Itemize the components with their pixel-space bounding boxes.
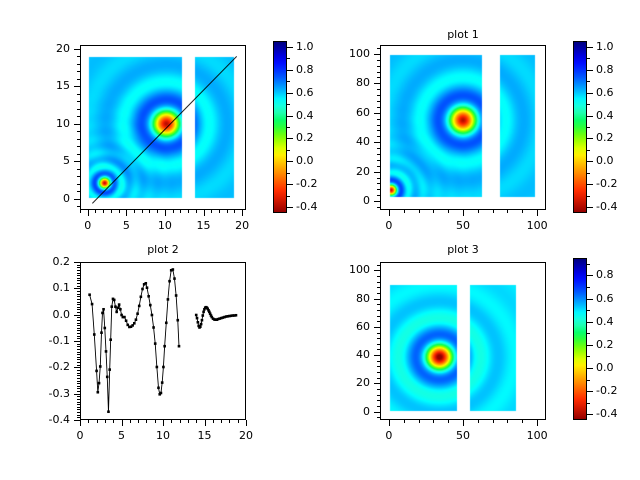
xtick-major (389, 210, 390, 216)
colorbar-tick-minor (287, 127, 290, 128)
ytick-label: -0.1 (24, 334, 70, 347)
ytick-minor (77, 373, 80, 374)
xtick-minor (238, 420, 239, 423)
xtick-major (246, 420, 247, 426)
ytick-minor (77, 296, 80, 297)
colorbar-tick-minor (587, 356, 590, 357)
colorbar-tick-minor (587, 287, 590, 288)
line-marker (114, 305, 117, 308)
ytick-label: 40 (324, 135, 370, 148)
ytick-minor (377, 207, 380, 208)
heatmap-image-top-right (381, 46, 545, 209)
line-marker (136, 312, 139, 315)
ytick-minor (77, 273, 80, 274)
colorbar-tick (587, 391, 593, 392)
ytick-minor (77, 328, 80, 329)
xtick-minor (433, 420, 434, 423)
xtick-major (80, 420, 81, 426)
xtick-label: 20 (218, 429, 274, 442)
ytick-minor (77, 323, 80, 324)
ytick-major (74, 262, 80, 263)
colorbar-tick-label: -0.4 (596, 407, 617, 420)
xtick-minor (119, 210, 120, 213)
ytick-minor (377, 101, 380, 102)
colorbar-tick-minor (587, 81, 590, 82)
ytick-label: 20 (24, 42, 70, 55)
ytick-minor (77, 64, 80, 65)
line-marker (167, 298, 170, 301)
line-marker (154, 342, 157, 345)
ytick-minor (377, 310, 380, 311)
line-marker (147, 295, 150, 298)
ytick-label: 20 (324, 165, 370, 178)
ytick-minor (77, 396, 80, 397)
colorbar-tick-minor (287, 150, 290, 151)
ytick-minor (377, 366, 380, 367)
xtick-major (537, 420, 538, 426)
ytick-minor (377, 77, 380, 78)
ytick-major (74, 341, 80, 342)
colorbar-tick (287, 47, 293, 48)
ytick-minor (77, 307, 80, 308)
ytick-minor (77, 265, 80, 266)
ytick-minor (377, 166, 380, 167)
ytick-major (74, 367, 80, 368)
line-marker (98, 382, 101, 385)
ytick-minor (77, 302, 80, 303)
heatmap-image-bottom-right (381, 263, 545, 419)
xtick-minor (522, 420, 523, 423)
xtick-label: 0 (361, 429, 417, 442)
ytick-minor (77, 184, 80, 185)
ytick-minor (77, 330, 80, 331)
colorbar-tick-label: 0.6 (296, 86, 314, 99)
ytick-minor (77, 333, 80, 334)
xtick-minor (478, 210, 479, 213)
ytick-minor (77, 346, 80, 347)
ytick-minor (377, 282, 380, 283)
ytick-major (374, 113, 380, 114)
xtick-major (126, 210, 127, 216)
line-marker (115, 311, 118, 314)
line-marker (175, 294, 178, 297)
xtick-label: 50 (435, 219, 491, 232)
ytick-label: 60 (324, 106, 370, 119)
xtick-minor (507, 210, 508, 213)
line-marker (141, 288, 144, 291)
ytick-label: 100 (324, 263, 370, 276)
xtick-minor (522, 210, 523, 213)
ytick-label: 0.1 (24, 281, 70, 294)
ytick-minor (377, 372, 380, 373)
colorbar-tick (587, 299, 593, 300)
ytick-minor (77, 317, 80, 318)
line-marker (200, 323, 203, 326)
ytick-minor (77, 402, 80, 403)
line-marker (101, 312, 104, 315)
colorbar-tick-label: 0.6 (596, 86, 614, 99)
line-marker (202, 311, 205, 314)
ytick-label: 100 (324, 47, 370, 60)
ytick-minor (77, 404, 80, 405)
ytick-minor (77, 378, 80, 379)
ytick-minor (377, 160, 380, 161)
ytick-minor (77, 270, 80, 271)
colorbar-tick (287, 184, 293, 185)
colorbar-tick (587, 138, 593, 139)
xtick-minor (234, 210, 235, 213)
xtick-minor (404, 210, 405, 213)
colorbar-tick-label: 0.4 (296, 109, 314, 122)
line-marker (144, 282, 147, 285)
xtick-minor (88, 420, 89, 423)
line-marker (102, 308, 105, 311)
colorbar-tick-minor (587, 380, 590, 381)
colorbar-tick-label: 0.0 (296, 154, 314, 167)
ytick-minor (377, 293, 380, 294)
plot-title-top-right: plot 1 (403, 28, 523, 41)
ytick-minor (77, 388, 80, 389)
ytick-minor (377, 344, 380, 345)
line-marker (88, 293, 91, 296)
xtick-minor (433, 210, 434, 213)
colorbar-tick-label: 0.8 (296, 63, 314, 76)
colorbar-tick-label: 0.0 (596, 361, 614, 374)
colorbar-tick (587, 47, 593, 48)
colorbar-tick-label: 0.2 (596, 338, 614, 351)
ytick-minor (377, 178, 380, 179)
xtick-minor (493, 210, 494, 213)
xtick-label: 0 (361, 219, 417, 232)
ytick-label: 80 (324, 76, 370, 89)
ytick-minor (77, 370, 80, 371)
line-marker (105, 350, 108, 353)
xtick-minor (419, 210, 420, 213)
ytick-minor (77, 375, 80, 376)
xtick-minor (419, 420, 420, 423)
xtick-minor (507, 420, 508, 423)
colorbar-bottom-right (573, 258, 587, 420)
ytick-minor (377, 276, 380, 277)
ytick-minor (77, 109, 80, 110)
ytick-minor (77, 412, 80, 413)
xtick-minor (196, 210, 197, 213)
line-marker (195, 314, 198, 317)
ytick-minor (377, 395, 380, 396)
ytick-major (374, 299, 380, 300)
colorbar-top-left (273, 41, 287, 213)
ytick-minor (77, 71, 80, 72)
line-marker (91, 303, 94, 306)
ytick-major (374, 83, 380, 84)
xtick-minor (134, 210, 135, 213)
xtick-minor (155, 420, 156, 423)
ytick-minor (377, 321, 380, 322)
ytick-minor (377, 189, 380, 190)
ytick-label: 80 (324, 292, 370, 305)
xtick-major (205, 420, 206, 426)
colorbar-tick (287, 70, 293, 71)
xtick-minor (227, 210, 228, 213)
line-marker (97, 391, 100, 394)
ytick-minor (77, 79, 80, 80)
ytick-major (374, 142, 380, 143)
xtick-minor (188, 420, 189, 423)
colorbar-tick-label: 0.2 (596, 131, 614, 144)
line-marker (108, 368, 111, 371)
ytick-minor (77, 304, 80, 305)
xtick-minor (103, 210, 104, 213)
ytick-minor (77, 283, 80, 284)
ytick-major (74, 124, 80, 125)
ytick-minor (77, 391, 80, 392)
xtick-minor (180, 210, 181, 213)
colorbar-tick-minor (587, 264, 590, 265)
colorbar-tick-label: -0.4 (296, 200, 317, 213)
ytick-minor (77, 206, 80, 207)
xtick-minor (173, 210, 174, 213)
ytick-minor (77, 309, 80, 310)
ytick-minor (77, 176, 80, 177)
xtick-major (122, 420, 123, 426)
xtick-minor (171, 420, 172, 423)
ytick-label: 60 (324, 320, 370, 333)
xtick-minor (138, 420, 139, 423)
colorbar-tick (587, 275, 593, 276)
ytick-minor (377, 349, 380, 350)
xtick-minor (229, 420, 230, 423)
xtick-minor (211, 210, 212, 213)
ytick-label: 10 (24, 117, 70, 130)
ytick-minor (77, 415, 80, 416)
colorbar-tick-label: 0.8 (596, 63, 614, 76)
ytick-minor (77, 169, 80, 170)
ytick-minor (77, 278, 80, 279)
ytick-major (374, 412, 380, 413)
ytick-minor (77, 131, 80, 132)
ytick-minor (77, 325, 80, 326)
ytick-major (374, 383, 380, 384)
xtick-minor (146, 420, 147, 423)
line-marker (113, 299, 116, 302)
line-chart-bottom-left (81, 263, 245, 419)
ytick-minor (377, 406, 380, 407)
ytick-minor (77, 291, 80, 292)
ytick-minor (77, 139, 80, 140)
ytick-major (374, 172, 380, 173)
xtick-minor (448, 420, 449, 423)
ytick-minor (77, 362, 80, 363)
xtick-minor (142, 210, 143, 213)
ytick-label: 0.0 (24, 308, 70, 321)
ytick-minor (77, 383, 80, 384)
line-marker (118, 303, 121, 306)
ytick-minor (377, 195, 380, 196)
colorbar-tick-minor (287, 81, 290, 82)
line-marker (99, 365, 102, 368)
xtick-major (242, 210, 243, 216)
ytick-minor (377, 154, 380, 155)
ytick-minor (77, 294, 80, 295)
ytick-minor (377, 389, 380, 390)
colorbar-tick-label: -0.2 (596, 177, 617, 190)
colorbar-tick-label: 0.2 (296, 131, 314, 144)
xtick-minor (149, 210, 150, 213)
colorbar-tick (587, 93, 593, 94)
colorbar-tick-minor (287, 104, 290, 105)
ytick-minor (77, 354, 80, 355)
ytick-major (74, 288, 80, 289)
ytick-minor (377, 148, 380, 149)
ytick-label: -0.2 (24, 360, 70, 373)
ytick-label: 20 (324, 376, 370, 389)
line-marker (151, 314, 154, 317)
colorbar-tick-minor (287, 173, 290, 174)
ytick-minor (77, 154, 80, 155)
ytick-minor (77, 386, 80, 387)
line-marker (125, 319, 128, 322)
ytick-minor (77, 365, 80, 366)
colorbar-tick-label: 0.0 (596, 154, 614, 167)
ytick-minor (377, 333, 380, 334)
xtick-label: 100 (509, 429, 565, 442)
ytick-minor (77, 359, 80, 360)
colorbar-tick-minor (287, 58, 290, 59)
ytick-minor (377, 125, 380, 126)
colorbar-tick-minor (587, 310, 590, 311)
ytick-minor (377, 136, 380, 137)
ytick-minor (77, 320, 80, 321)
colorbar-tick (587, 161, 593, 162)
colorbar-tick (587, 414, 593, 415)
xtick-minor (97, 420, 98, 423)
ytick-minor (377, 72, 380, 73)
xtick-label: 20 (214, 219, 270, 232)
line-marker (117, 306, 120, 309)
colorbar-tick (287, 207, 293, 208)
ytick-major (374, 270, 380, 271)
xtick-major (163, 420, 164, 426)
xtick-minor (180, 420, 181, 423)
ytick-minor (377, 417, 380, 418)
xtick-minor (404, 420, 405, 423)
ytick-major (74, 420, 80, 421)
ytick-label: 0 (324, 194, 370, 207)
colorbar-tick-label: -0.2 (296, 177, 317, 190)
line-marker (156, 366, 159, 369)
ytick-minor (377, 66, 380, 67)
line-marker (93, 333, 96, 336)
colorbar-tick-label: 1.0 (596, 40, 614, 53)
xtick-major (463, 210, 464, 216)
ytick-minor (377, 361, 380, 362)
ytick-minor (377, 119, 380, 120)
ytick-major (74, 49, 80, 50)
colorbar-tick-minor (587, 150, 590, 151)
line-marker (140, 296, 143, 299)
colorbar-tick-minor (287, 196, 290, 197)
ytick-label: 15 (24, 79, 70, 92)
ytick-minor (77, 349, 80, 350)
ytick-major (74, 86, 80, 87)
colorbar-tick (587, 184, 593, 185)
colorbar-tick-minor (587, 403, 590, 404)
ytick-minor (77, 357, 80, 358)
ytick-minor (77, 280, 80, 281)
colorbar-tick-minor (587, 58, 590, 59)
xtick-major (463, 420, 464, 426)
colorbar-tick (587, 207, 593, 208)
line-marker (119, 308, 122, 311)
xtick-minor (221, 420, 222, 423)
ytick-minor (77, 267, 80, 268)
xtick-minor (188, 210, 189, 213)
colorbar-top-right (573, 41, 587, 213)
ytick-label: -0.3 (24, 387, 70, 400)
line-series-0 (90, 270, 179, 412)
line-marker (95, 370, 98, 373)
line-marker (199, 325, 202, 328)
line-marker (178, 345, 181, 348)
plot-title-bottom-right: plot 3 (403, 243, 523, 256)
ytick-minor (77, 381, 80, 382)
ytick-minor (377, 107, 380, 108)
ytick-label: 5 (24, 154, 70, 167)
ytick-major (374, 201, 380, 202)
line-marker (176, 319, 179, 322)
xtick-label: 100 (509, 219, 565, 232)
line-marker (163, 345, 166, 348)
colorbar-tick-minor (587, 196, 590, 197)
ytick-minor (77, 409, 80, 410)
ytick-minor (377, 95, 380, 96)
colorbar-tick (287, 138, 293, 139)
ytick-minor (77, 312, 80, 313)
line-marker (138, 305, 141, 308)
ytick-minor (377, 130, 380, 131)
line-marker (201, 319, 204, 322)
ytick-minor (77, 417, 80, 418)
colorbar-tick-label: -0.4 (596, 200, 617, 213)
colorbar-tick-label: 1.0 (296, 40, 314, 53)
xtick-minor (111, 210, 112, 213)
xtick-major (204, 210, 205, 216)
xtick-minor (196, 420, 197, 423)
line-marker (109, 338, 112, 341)
colorbar-tick (587, 322, 593, 323)
ytick-minor (77, 191, 80, 192)
xtick-minor (80, 210, 81, 213)
line-marker (133, 322, 136, 325)
ytick-major (74, 199, 80, 200)
xtick-minor (448, 210, 449, 213)
line-marker (103, 327, 106, 330)
line-marker (161, 381, 164, 384)
ytick-minor (77, 275, 80, 276)
colorbar-tick (587, 368, 593, 369)
colorbar-tick (287, 161, 293, 162)
line-marker (123, 316, 126, 319)
ytick-major (74, 315, 80, 316)
xtick-minor (113, 420, 114, 423)
plot-title-bottom-left: plot 2 (103, 243, 223, 256)
line-marker (201, 314, 204, 317)
line-marker (146, 286, 149, 289)
ytick-label: 0 (324, 405, 370, 418)
xtick-major (88, 210, 89, 216)
xtick-major (537, 210, 538, 216)
line-marker (196, 317, 199, 320)
